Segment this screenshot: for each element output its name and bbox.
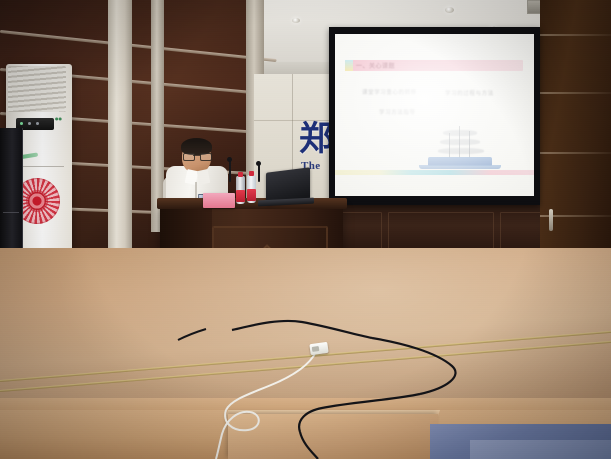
paper-cut-center bbox=[28, 192, 46, 210]
slide-title-text: 一、关心课题 bbox=[356, 61, 395, 70]
ship-mast bbox=[449, 133, 450, 158]
stage-step bbox=[228, 414, 438, 459]
slide-body-line: 学习方法指导 bbox=[379, 108, 416, 116]
ship-sail bbox=[443, 130, 477, 136]
display-indicator bbox=[20, 122, 23, 125]
display-indicator bbox=[36, 122, 39, 125]
microphone-stem bbox=[258, 164, 260, 182]
glasses-bridge bbox=[193, 155, 200, 156]
ship-sail bbox=[440, 139, 480, 145]
adapter-port bbox=[312, 346, 320, 352]
water-bottle[interactable] bbox=[236, 176, 245, 204]
microphone-head bbox=[227, 157, 232, 162]
slide-footer bbox=[335, 175, 534, 196]
glasses-lens bbox=[200, 153, 212, 161]
microphone-stem bbox=[229, 160, 231, 182]
lecture-hall-photo: 郑 The 院 rsity 一、关心课题 课堂学习重心的转移 学习的过程与方法 … bbox=[0, 0, 611, 459]
projected-slide: 一、关心课题 课堂学习重心的转移 学习的过程与方法 学习方法指导 bbox=[335, 34, 534, 196]
ceiling-downlight bbox=[445, 7, 454, 13]
pink-folder[interactable] bbox=[203, 193, 235, 208]
ship-hull bbox=[419, 165, 501, 169]
slide-body-line: 学习的过程与方法 bbox=[445, 89, 494, 97]
wainscot-panel bbox=[388, 212, 494, 252]
panel-groove bbox=[540, 34, 611, 36]
ship-sail bbox=[438, 148, 484, 154]
air-conditioner-brand-label: ●● bbox=[55, 116, 62, 121]
glasses-icon bbox=[183, 153, 210, 159]
venue-sign-chinese-left: 郑 bbox=[299, 122, 333, 156]
water-bottle[interactable] bbox=[247, 175, 256, 203]
display-indicator bbox=[28, 122, 31, 125]
aisle-carpet bbox=[470, 440, 611, 459]
door-handle[interactable] bbox=[549, 209, 553, 231]
bottle-label bbox=[247, 189, 256, 201]
panel-groove bbox=[540, 92, 611, 94]
microphone-head bbox=[256, 161, 261, 166]
ceiling-downlight bbox=[292, 18, 300, 23]
bottle-label bbox=[236, 190, 245, 202]
bottle-cap bbox=[249, 171, 254, 176]
bottle-cap bbox=[238, 172, 243, 177]
wall-pillar bbox=[108, 0, 132, 248]
projection-screen: 一、关心课题 课堂学习重心的转移 学习的过程与方法 学习方法指导 bbox=[329, 27, 540, 205]
panel-groove bbox=[540, 152, 611, 154]
slide-title-accent bbox=[345, 60, 353, 71]
air-conditioner-grille bbox=[8, 66, 66, 112]
slide-body-line: 课堂学习重心的转移 bbox=[362, 88, 417, 96]
